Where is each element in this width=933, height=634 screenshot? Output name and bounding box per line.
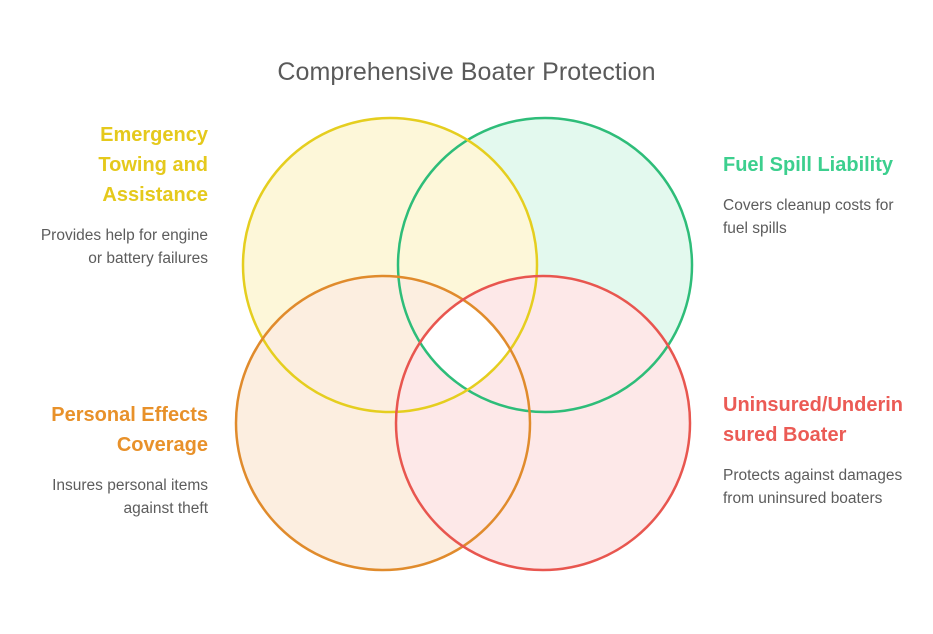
- label-emergency-towing-heading: Emergency Towing and Assistance: [28, 120, 208, 210]
- label-fuel-spill-liability-heading: Fuel Spill Liability: [723, 150, 913, 180]
- label-personal-effects-description: Insures personal items against theft: [28, 474, 208, 520]
- label-uninsured-boater-description: Protects against damages from uninsured …: [723, 464, 903, 510]
- label-uninsured-boater-heading: Uninsured/Underinsured Boater: [723, 390, 903, 450]
- label-personal-effects[interactable]: Personal Effects Coverage Insures person…: [28, 400, 208, 520]
- diagram-canvas: Comprehensive Boater Protection: [0, 0, 933, 634]
- label-fuel-spill-liability-description: Covers cleanup costs for fuel spills: [723, 194, 913, 240]
- label-personal-effects-heading: Personal Effects Coverage: [28, 400, 208, 460]
- label-uninsured-boater[interactable]: Uninsured/Underinsured Boater Protects a…: [723, 390, 903, 510]
- label-fuel-spill-liability[interactable]: Fuel Spill Liability Covers cleanup cost…: [723, 150, 913, 240]
- label-emergency-towing[interactable]: Emergency Towing and Assistance Provides…: [28, 120, 208, 270]
- venn-diagram: [0, 0, 933, 634]
- label-emergency-towing-description: Provides help for engine or battery fail…: [28, 224, 208, 270]
